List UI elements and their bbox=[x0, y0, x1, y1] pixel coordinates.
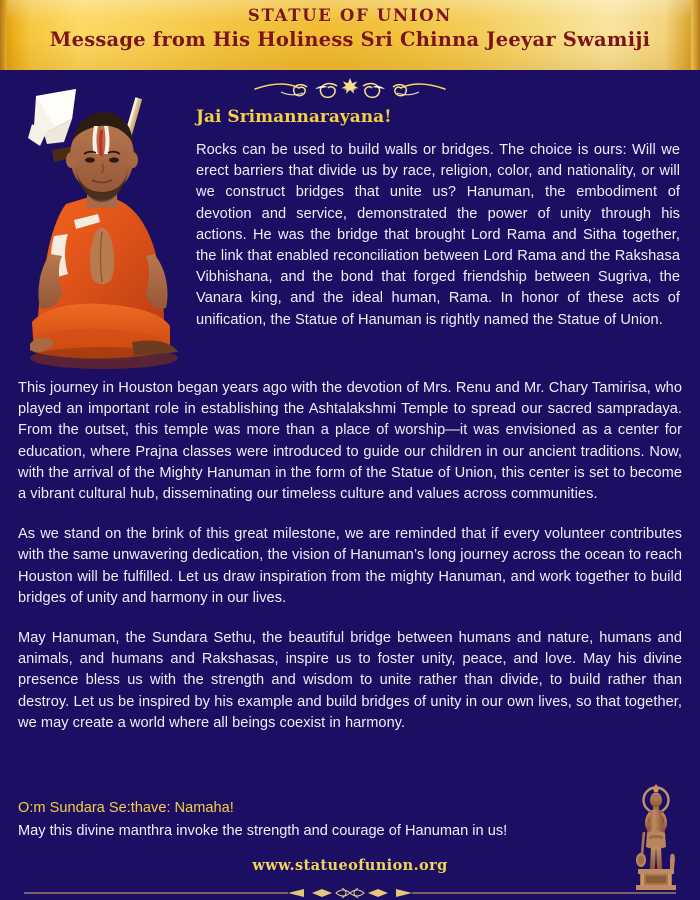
page-subtitle: Message from His Holiness Sri Chinna Jee… bbox=[0, 29, 700, 51]
paragraph-3: As we stand on the brink of this great m… bbox=[18, 524, 682, 609]
header-banner: STATUE OF UNION Message from His Holines… bbox=[0, 0, 700, 70]
page-title: STATUE OF UNION bbox=[0, 7, 700, 25]
poster-page: STATUE OF UNION Message from His Holines… bbox=[0, 0, 700, 900]
paragraph-2: This journey in Houston began years ago … bbox=[18, 378, 682, 505]
website-url-link[interactable]: www.statueofunion.org bbox=[0, 857, 700, 875]
paragraph-4: May Hanuman, the Sundara Sethu, the beau… bbox=[18, 628, 682, 734]
body-text: This journey in Houston began years ago … bbox=[18, 378, 682, 734]
greeting-heading: Jai Srimannarayana! bbox=[196, 107, 676, 127]
swamiji-photo bbox=[14, 86, 189, 371]
footer: www.statueofunion.org bbox=[0, 857, 700, 875]
mantra-line: O:m Sundara Se:thave: Namaha! bbox=[18, 798, 658, 819]
hanuman-statue-image bbox=[626, 784, 686, 896]
footer-divider-icon bbox=[0, 886, 700, 900]
mantra-subline: May this divine manthra invoke the stren… bbox=[18, 821, 658, 842]
mantra-block: O:m Sundara Se:thave: Namaha! May this d… bbox=[18, 798, 658, 842]
paragraph-1: Rocks can be used to build walls or brid… bbox=[196, 140, 680, 331]
